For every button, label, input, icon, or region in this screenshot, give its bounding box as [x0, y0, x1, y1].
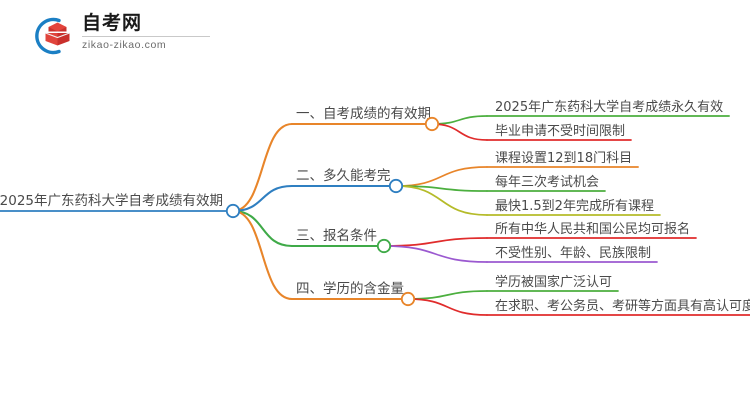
branch-3-label: 三、报名条件	[296, 227, 377, 244]
branch-4-connector	[233, 211, 292, 299]
branch-3-leaf-2-connector	[384, 246, 487, 262]
branch-4-node[interactable]	[402, 293, 414, 305]
branch-3-leaf-2-label: 不受性别、年龄、民族限制	[495, 245, 651, 261]
branch-1-leaf-2-connector	[432, 124, 487, 140]
branch-1-leaf-1-label: 2025年广东药科大学自考成绩永久有效	[495, 99, 723, 115]
branch-3-connector	[233, 211, 292, 246]
node-dot-layer	[227, 118, 438, 305]
root-label: 2025年广东药科大学自考成绩有效期	[0, 193, 223, 209]
branch-2-leaf-2-label: 每年三次考试机会	[495, 174, 599, 190]
branch-3-leaf-1-label: 所有中华人民共和国公民均可报名	[495, 221, 690, 237]
branch-3-node[interactable]	[378, 240, 390, 252]
branch-4-leaf-1-label: 学历被国家广泛认可	[495, 274, 612, 290]
branch-1-label: 一、自考成绩的有效期	[296, 106, 431, 122]
branch-1-leaf-1-connector	[432, 116, 487, 124]
mindmap-canvas: 2025年广东药科大学自考成绩有效期一、自考成绩的有效期2025年广东药科大学自…	[0, 0, 750, 410]
mindmap-screenshot: 自考网 zikao-zikao.com 2025年广东药科大学自考成绩有效期一、…	[0, 0, 750, 410]
branch-4-label: 四、学历的含金量	[296, 281, 404, 297]
label-layer: 2025年广东药科大学自考成绩有效期一、自考成绩的有效期2025年广东药科大学自…	[0, 99, 750, 314]
branch-2-leaf-1-label: 课程设置12到18门科目	[495, 151, 632, 166]
branch-2-node[interactable]	[390, 180, 402, 192]
branch-2-leaf-1-connector	[396, 167, 487, 186]
branch-4-leaf-2-connector	[408, 299, 487, 315]
branch-2-label: 二、多久能考完	[296, 167, 391, 184]
branch-4-leaf-1-connector	[408, 291, 487, 299]
branch-4-leaf-2-label: 在求职、考公务员、考研等方面具有高认可度	[495, 298, 750, 314]
branch-connector-layer	[233, 124, 432, 299]
branch-3-leaf-1-connector	[384, 238, 487, 246]
branch-1-leaf-2-label: 毕业申请不受时间限制	[495, 124, 625, 139]
branch-2-leaf-3-label: 最快1.5到2年完成所有课程	[495, 199, 654, 214]
branch-1-node[interactable]	[426, 118, 438, 130]
root-node[interactable]	[227, 205, 239, 217]
